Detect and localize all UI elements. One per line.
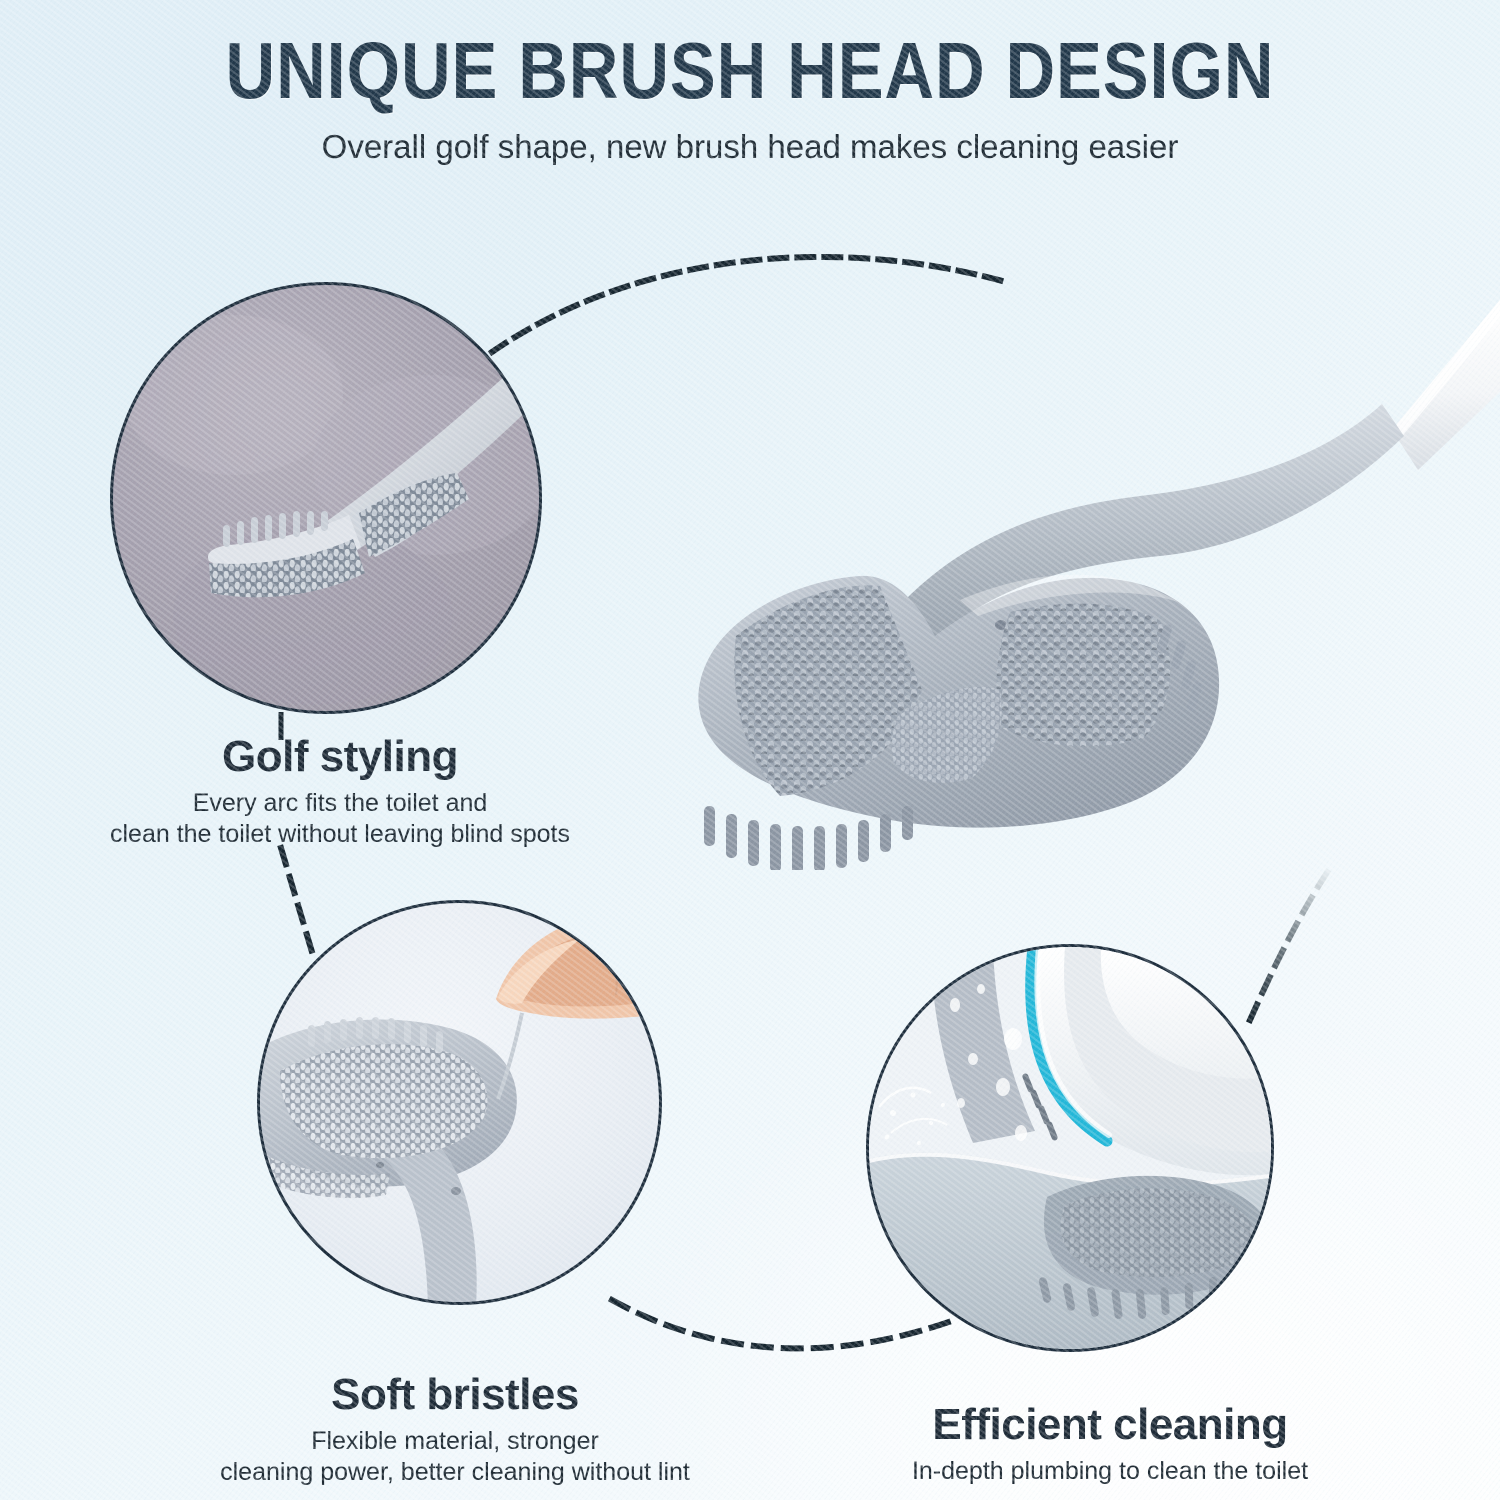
connector-line-2-to-3 <box>612 1300 960 1348</box>
callout-circle-soft-bristles <box>257 900 662 1305</box>
connector-line-golf-styling <box>492 257 1006 352</box>
hero-handle <box>1392 300 1500 470</box>
feature-desc-soft-bristles-line1: Flexible material, stronger <box>185 1426 725 1457</box>
hero-neck <box>905 404 1404 640</box>
feature-desc-efficient-cleaning-line1: In-depth plumbing to clean the toilet <box>830 1456 1390 1487</box>
feature-title-golf-styling: Golf styling <box>60 732 620 782</box>
connector-line-efficient-cleaning <box>1250 836 1352 1020</box>
feature-title-soft-bristles: Soft bristles <box>185 1370 725 1420</box>
callout-label-soft-bristles: Soft bristles Flexible material, stronge… <box>185 1370 725 1487</box>
feature-title-efficient-cleaning: Efficient cleaning <box>830 1400 1390 1450</box>
hero-bristle-fringe <box>704 806 913 874</box>
hero-bristle-pad-left <box>734 585 922 796</box>
feature-desc-soft-bristles-line2: cleaning power, better cleaning without … <box>185 1457 725 1488</box>
feature-desc-golf-styling-line2: clean the toilet without leaving blind s… <box>60 819 620 850</box>
callout-label-golf-styling: Golf styling Every arc fits the toilet a… <box>60 732 620 849</box>
infographic-canvas: UNIQUE BRUSH HEAD DESIGN Overall golf sh… <box>0 0 1500 1500</box>
hero-bristle-fringe-right <box>1156 623 1203 712</box>
callout-circle-golf-styling <box>110 282 542 714</box>
hero-bristle-pad-center <box>892 687 1002 783</box>
callout-circle-efficient-cleaning <box>866 944 1274 1352</box>
page-title: UNIQUE BRUSH HEAD DESIGN <box>105 32 1395 110</box>
page-subtitle: Overall golf shape, new brush head makes… <box>0 128 1500 166</box>
hero-bristle-pad-right <box>996 604 1170 747</box>
callout-2-image <box>260 903 662 1305</box>
callout-label-efficient-cleaning: Efficient cleaning In-depth plumbing to … <box>830 1400 1390 1487</box>
callout-3-image <box>869 947 1274 1352</box>
connector-line-soft-bristles <box>281 848 312 952</box>
feature-desc-golf-styling-line1: Every arc fits the toilet and <box>60 788 620 819</box>
hero-head <box>698 576 1219 828</box>
header: UNIQUE BRUSH HEAD DESIGN Overall golf sh… <box>0 32 1500 166</box>
callout-1-image <box>113 285 542 714</box>
callout-2-hand <box>496 908 662 1018</box>
